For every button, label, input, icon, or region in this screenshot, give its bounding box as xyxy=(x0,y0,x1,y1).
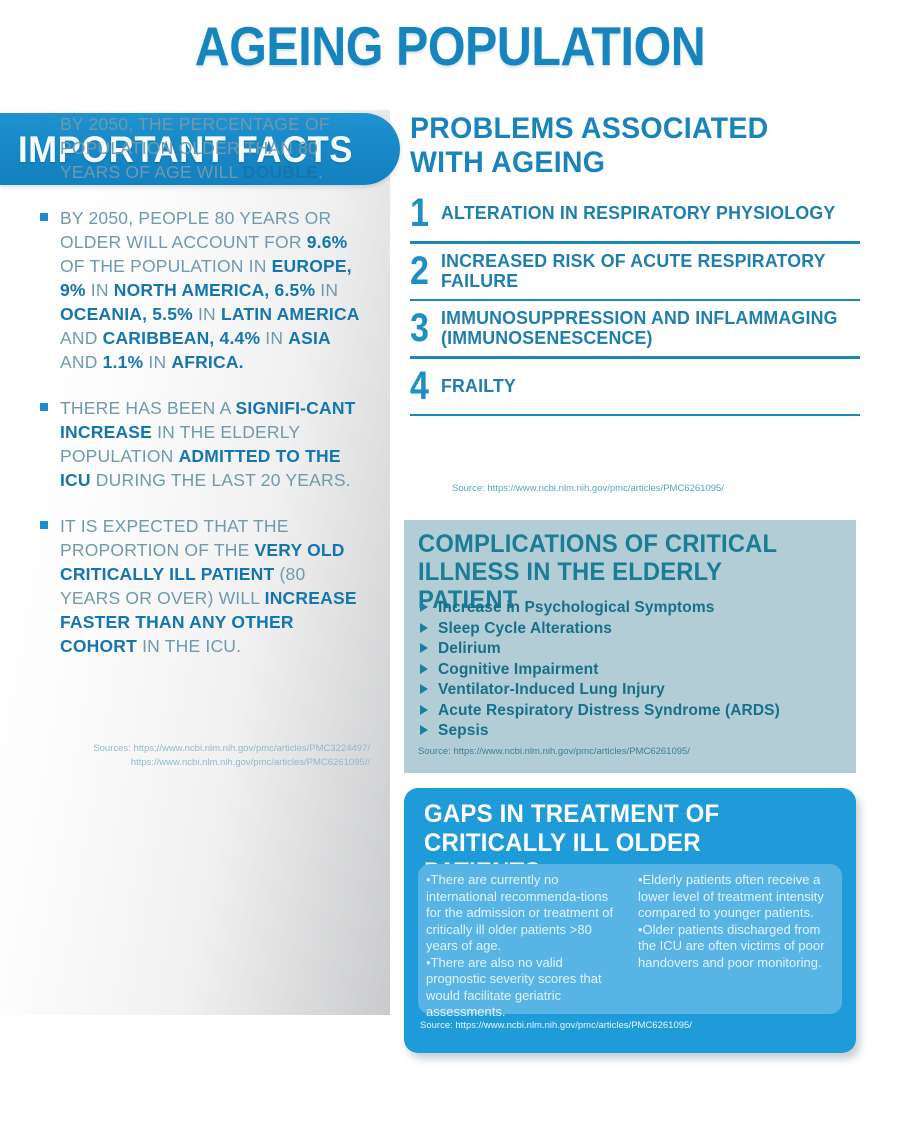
gaps-panel: GAPS IN TREATMENT OF CRITICALLY ILL OLDE… xyxy=(404,788,856,1053)
list-item: IT IS EXPECTED THAT THE PROPORTION OF TH… xyxy=(40,514,370,658)
problem-number: 2 xyxy=(410,252,436,290)
complication-text: Sleep Cycle Alterations xyxy=(438,620,612,637)
list-item: Increase in Psychological Symptoms xyxy=(418,598,848,619)
problems-source: Source: https://www.ncbi.nlm.nih.gov/pmc… xyxy=(452,483,724,494)
page-title: AGEING POPULATION xyxy=(54,18,846,76)
list-item: Sepsis xyxy=(418,721,848,742)
problem-text: ALTERATION IN RESPIRATORY PHYSIOLOGY xyxy=(441,203,835,223)
triangle-bullet-icon xyxy=(420,643,428,653)
gaps-column-right: •Elderly patients often receive a lower … xyxy=(630,864,842,1014)
gaps-column-left: •There are currently no international re… xyxy=(418,864,630,1014)
complications-source: Source: https://www.ncbi.nlm.nih.gov/pmc… xyxy=(418,746,690,757)
list-item: THERE HAS BEEN A SIGNIFI-CANT INCREASE I… xyxy=(40,396,370,492)
triangle-bullet-icon xyxy=(420,602,428,612)
triangle-bullet-icon xyxy=(420,684,428,694)
fact-text: IT IS EXPECTED THAT THE PROPORTION OF TH… xyxy=(60,516,357,656)
bullet-square-icon xyxy=(40,403,48,411)
problems-title: PROBLEMS ASSOCIATED WITH AGEING xyxy=(410,112,838,180)
complication-text: Increase in Psychological Symptoms xyxy=(438,599,714,616)
list-item: 1 ALTERATION IN RESPIRATORY PHYSIOLOGY xyxy=(410,186,860,241)
problem-text: FRAILTY xyxy=(441,376,516,396)
bullet-square-icon xyxy=(40,521,48,529)
list-item: Ventilator-Induced Lung Injury xyxy=(418,680,848,701)
list-item: Sleep Cycle Alterations xyxy=(418,619,848,640)
gap-text: •Older patients discharged from the ICU … xyxy=(638,922,832,972)
source-line: Sources: https://www.ncbi.nlm.nih.gov/pm… xyxy=(40,742,370,756)
gaps-source: Source: https://www.ncbi.nlm.nih.gov/pmc… xyxy=(420,1020,692,1031)
triangle-bullet-icon xyxy=(420,705,428,715)
left-sources: Sources: https://www.ncbi.nlm.nih.gov/pm… xyxy=(40,742,370,770)
fact-text: THERE HAS BEEN A SIGNIFI-CANT INCREASE I… xyxy=(60,398,356,490)
complication-text: Acute Respiratory Distress Syndrome (ARD… xyxy=(438,702,780,719)
gap-text: •There are currently no international re… xyxy=(426,872,620,955)
bullet-square-icon xyxy=(40,119,48,127)
bullet-square-icon xyxy=(40,213,48,221)
complication-text: Delirium xyxy=(438,640,501,657)
triangle-bullet-icon xyxy=(420,725,428,735)
list-item: Cognitive Impairment xyxy=(418,660,848,681)
gap-text: •Elderly patients often receive a lower … xyxy=(638,872,832,922)
fact-text: BY 2050, THE PERCENTAGE OF POPULATION OL… xyxy=(60,114,330,182)
gaps-content-box: •There are currently no international re… xyxy=(418,864,842,1014)
complication-text: Sepsis xyxy=(438,722,489,739)
list-item: Delirium xyxy=(418,639,848,660)
list-item: Acute Respiratory Distress Syndrome (ARD… xyxy=(418,701,848,722)
problem-number: 4 xyxy=(410,367,436,405)
list-item: 3 IMMUNOSUPPRESSION AND INFLAMMAGING (IM… xyxy=(410,301,860,356)
divider xyxy=(410,414,860,417)
complication-text: Ventilator-Induced Lung Injury xyxy=(438,681,665,698)
source-line: https://www.ncbi.nlm.nih.gov/pmc/article… xyxy=(40,756,370,770)
problem-text: INCREASED RISK OF ACUTE RESPIRATORY FAIL… xyxy=(441,251,843,291)
list-item: BY 2050, THE PERCENTAGE OF POPULATION OL… xyxy=(40,112,370,184)
gap-text: •There are also no valid prognostic seve… xyxy=(426,955,620,1021)
list-item: BY 2050, PEOPLE 80 YEARS OR OLDER WILL A… xyxy=(40,206,370,374)
fact-text: BY 2050, PEOPLE 80 YEARS OR OLDER WILL A… xyxy=(60,208,360,372)
list-item: 2 INCREASED RISK OF ACUTE RESPIRATORY FA… xyxy=(410,244,860,299)
problem-text: IMMUNOSUPPRESSION AND INFLAMMAGING (IMMU… xyxy=(441,308,843,348)
list-item: 4 FRAILTY xyxy=(410,359,860,414)
problems-list: 1 ALTERATION IN RESPIRATORY PHYSIOLOGY 2… xyxy=(410,186,860,416)
problem-number: 3 xyxy=(410,309,436,347)
facts-list: BY 2050, THE PERCENTAGE OF POPULATION OL… xyxy=(40,112,370,680)
problem-number: 1 xyxy=(410,194,436,232)
triangle-bullet-icon xyxy=(420,623,428,633)
complications-panel: COMPLICATIONS OF CRITICAL ILLNESS IN THE… xyxy=(404,520,856,773)
complications-list: Increase in Psychological Symptoms Sleep… xyxy=(418,598,848,742)
triangle-bullet-icon xyxy=(420,664,428,674)
complication-text: Cognitive Impairment xyxy=(438,661,598,678)
